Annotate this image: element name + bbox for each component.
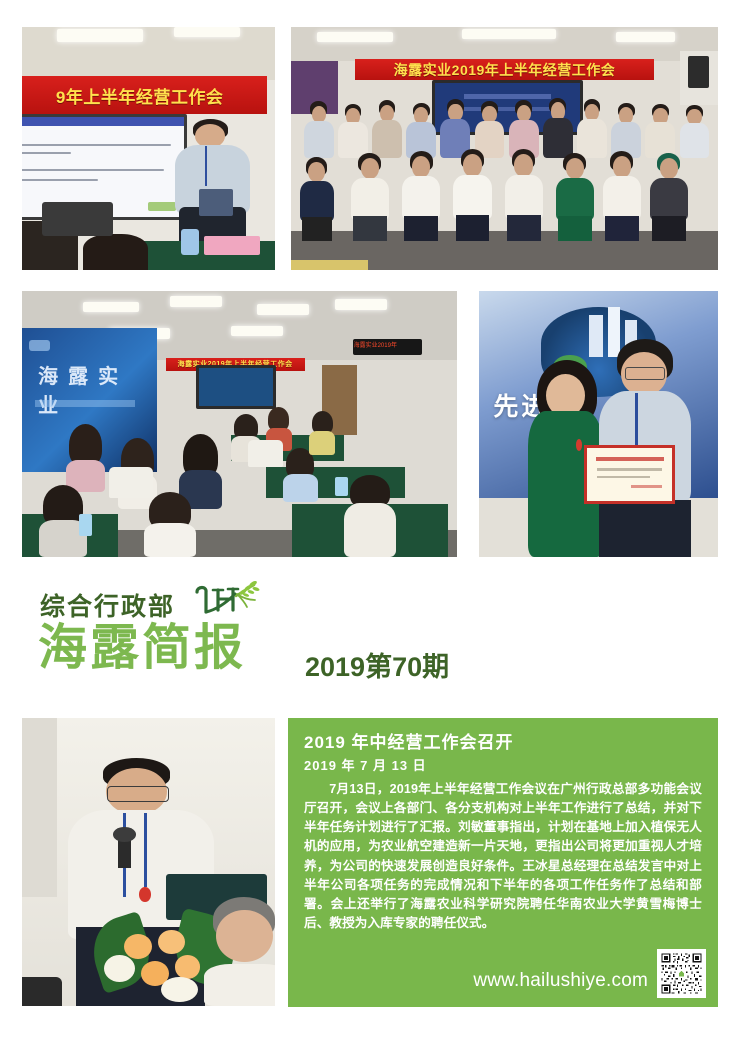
photo-banner-text: 海露实业2019年上半年经营工作会 — [355, 59, 654, 81]
website-url[interactable]: www.hailushiye.com — [473, 970, 648, 998]
lh-monogram-wheat-logo-icon — [185, 580, 261, 620]
department-line: 综合行政部 — [40, 580, 261, 620]
article-title: 2019 年中经营工作会召开 — [304, 732, 702, 753]
photo-award: 先进 — [479, 291, 718, 557]
panel-footer: www.hailushiye.com — [304, 949, 706, 998]
article-body: 7月13日，2019年上半年经营工作会议在广州行政总部多功能会议厅召开，会议上各… — [304, 780, 702, 934]
masthead: 综合行政部 — [0, 566, 740, 711]
article-date: 2019 年 7 月 13 日 — [304, 758, 702, 774]
qr-code-icon[interactable] — [657, 949, 706, 998]
page-title: 海露简报 — [38, 624, 246, 673]
photo-speech — [22, 718, 275, 1006]
photo-audience: 海露实业 海露实业2019年上半年经营工作会 海露实业2019年 — [22, 291, 457, 557]
newsletter-page: 9年上半年经营工作会 — [0, 0, 740, 1047]
department-name: 综合行政部 — [40, 595, 175, 620]
photo-group: 海露实业2019年上半年经营工作会 — [291, 27, 718, 270]
photo-podium-speaker: 9年上半年经营工作会 — [22, 27, 275, 270]
issue-number: 2019第70期 — [305, 654, 449, 681]
article-panel: 2019 年中经营工作会召开 2019 年 7 月 13 日 7月13日，201… — [288, 718, 718, 1007]
photo-banner-text: 9年上半年经营工作会 — [22, 76, 267, 115]
